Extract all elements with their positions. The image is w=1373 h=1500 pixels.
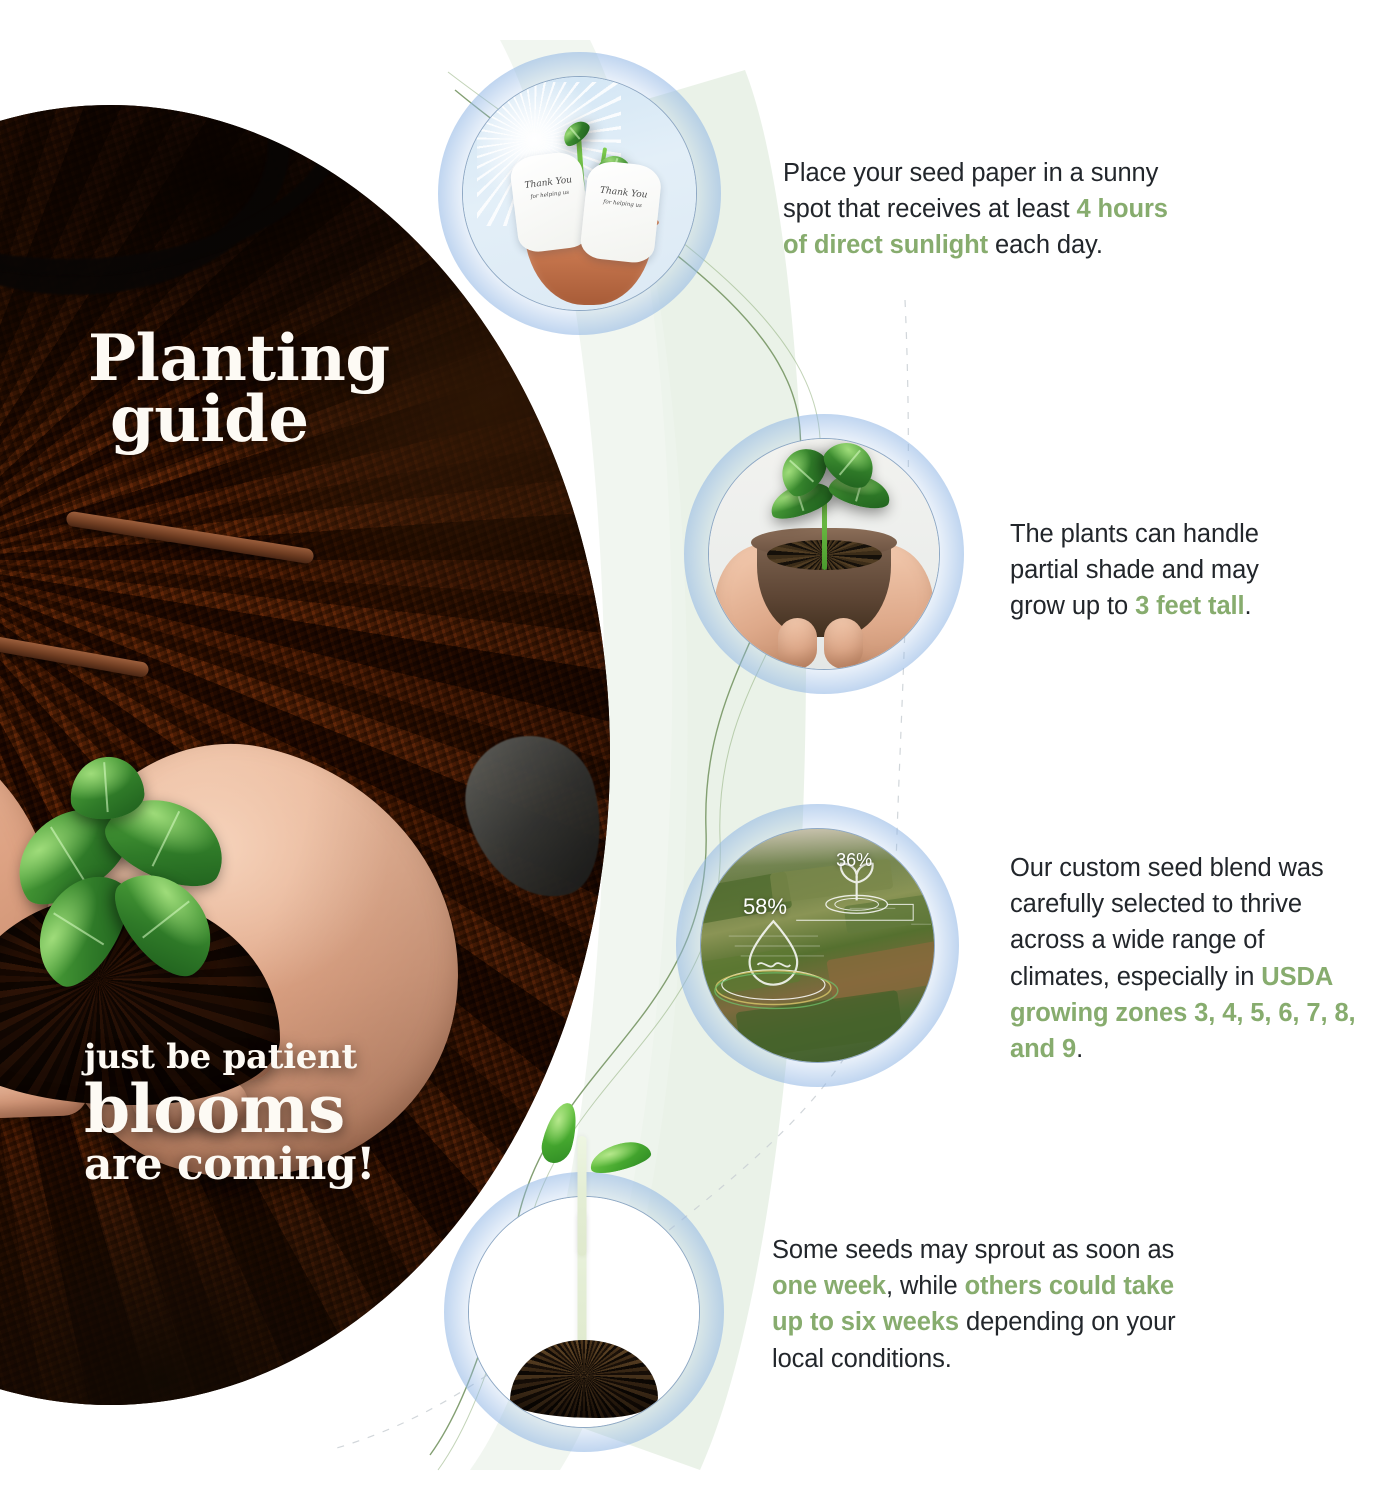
step-image-sunlight: Thank You for helping us Thank You for h… (462, 76, 697, 311)
closing-message: just be patient blooms are coming! (84, 1040, 375, 1188)
body-text: . (1245, 592, 1252, 620)
closing-line-1: just be patient (84, 1040, 375, 1074)
step-image-sprout-timing (468, 1196, 700, 1428)
closing-line-2: blooms (84, 1076, 375, 1143)
hud-label-water: 58% (743, 894, 787, 920)
droplet-ring-accent (715, 973, 838, 1009)
tag-text: Thank You for helping us (592, 184, 655, 212)
step-text-shade-height: The plants can handle partial shade and … (1010, 516, 1300, 625)
thumb (778, 618, 817, 669)
thumb (824, 618, 863, 669)
hud-grid (850, 908, 931, 924)
page-title: Planting guide (88, 328, 390, 451)
seed-paper-tag: Thank You for helping us (509, 150, 592, 254)
title-line-2: guide (110, 389, 309, 450)
step-text-sprout-timing: Some seeds may sprout as soon as one wee… (772, 1232, 1192, 1377)
seed-paper-tag: Thank You for helping us (579, 160, 663, 265)
hud-overlay (701, 829, 934, 1062)
highlight-text: 3 feet tall (1135, 592, 1244, 620)
body-text: each day. (988, 231, 1103, 259)
tag-text: Thank You for helping us (519, 173, 580, 202)
step-text-sunlight: Place your seed paper in a sunny spot th… (783, 155, 1193, 264)
hud-connector (796, 904, 913, 920)
highlight-text: one week (772, 1272, 886, 1300)
body-text: . (1076, 1035, 1083, 1063)
closing-line-3: are coming! (84, 1143, 375, 1188)
water-droplet-icon (750, 921, 798, 984)
step-text-climate-zones: Our custom seed blend was carefully sele… (1010, 850, 1362, 1067)
body-text: , while (886, 1272, 965, 1300)
hud-label-sprout: 36% (836, 850, 872, 871)
step-image-climate-zones: 36% 58% (700, 828, 935, 1063)
hud-grid (729, 936, 824, 956)
body-text: Some seeds may sprout as soon as (772, 1236, 1174, 1264)
droplet-wave (758, 963, 791, 966)
planting-guide-infographic: Planting guide just be patient blooms ar… (0, 0, 1373, 1500)
step-image-shade-height (708, 438, 940, 670)
